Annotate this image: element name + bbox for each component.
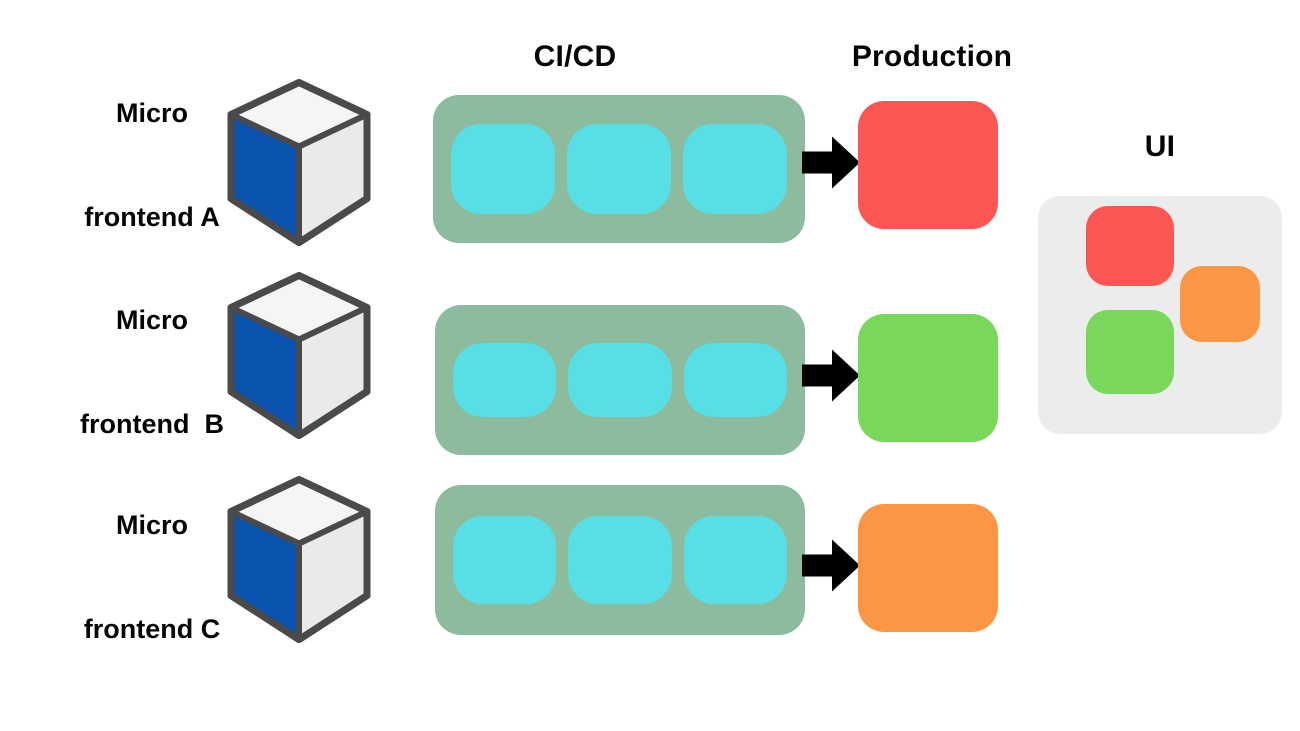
ui-tile-red[interactable] (1086, 206, 1174, 286)
production-deployment-c[interactable] (858, 504, 998, 632)
pipeline-stage[interactable] (451, 124, 555, 214)
diagram-canvas: CI/CD Production UI Micro frontend A Mic… (0, 0, 1300, 731)
label-line-1: Micro (80, 303, 224, 338)
pipeline-stage[interactable] (684, 343, 787, 417)
label-line-2: frontend A (84, 200, 219, 235)
pipeline-stage[interactable] (568, 516, 671, 604)
pipeline-stage[interactable] (684, 516, 787, 604)
label-line-2: frontend B (80, 407, 224, 442)
pipeline-stage[interactable] (567, 124, 671, 214)
arrow-right-icon (800, 535, 862, 602)
production-deployment-b[interactable] (858, 314, 998, 442)
cicd-pipeline-b (435, 305, 805, 455)
ui-tile-orange[interactable] (1180, 266, 1260, 342)
column-header-production: Production (852, 40, 1012, 74)
pipeline-stage[interactable] (453, 343, 556, 417)
column-header-cicd: CI/CD (534, 40, 617, 74)
label-line-2: frontend C (84, 612, 220, 647)
ui-tile-green[interactable] (1086, 310, 1174, 394)
production-deployment-a[interactable] (858, 101, 998, 229)
label-line-1: Micro (84, 508, 220, 543)
micro-frontend-c-label: Micro frontend C (84, 439, 220, 715)
cicd-pipeline-c (435, 485, 805, 635)
ui-composition-panel (1038, 196, 1282, 434)
micro-frontend-a-cube (225, 79, 373, 252)
arrow-right-icon (800, 132, 862, 199)
micro-frontend-b-cube (225, 272, 373, 445)
cicd-pipeline-a (433, 95, 805, 243)
pipeline-stage[interactable] (453, 516, 556, 604)
label-line-1: Micro (84, 96, 219, 131)
arrow-right-icon (800, 345, 862, 412)
pipeline-stage[interactable] (568, 343, 671, 417)
pipeline-stage[interactable] (683, 124, 787, 214)
column-header-ui: UI (1145, 130, 1175, 164)
micro-frontend-c-cube (225, 476, 373, 649)
